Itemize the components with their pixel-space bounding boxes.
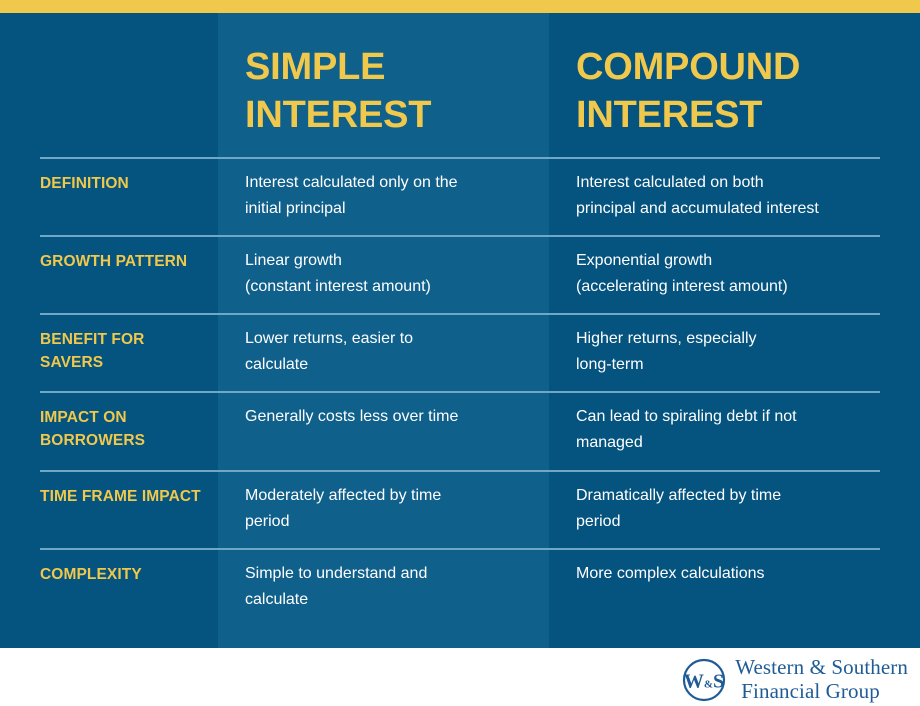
cell-text-line1: Dramatically affected by time bbox=[576, 483, 906, 509]
table-row: BENEFIT FOR SAVERS Lower returns, easier… bbox=[0, 313, 920, 391]
row-divider bbox=[40, 470, 880, 472]
cell-text-line1: Generally costs less over time bbox=[245, 404, 541, 430]
column-header-compound-line1: COMPOUND bbox=[576, 44, 920, 92]
cell-text-line2: calculate bbox=[245, 352, 541, 378]
column-header-compound-interest: COMPOUND INTEREST bbox=[576, 44, 920, 139]
svg-text:W&S: W&S bbox=[684, 670, 724, 692]
table-row: TIME FRAME IMPACT Moderately affected by… bbox=[0, 470, 920, 548]
table-row: IMPACT ON BORROWERS Generally costs less… bbox=[0, 391, 920, 470]
cell-text-line1: More complex calculations bbox=[576, 561, 906, 587]
cell-text-line2: calculate bbox=[245, 587, 541, 613]
comparison-infographic: SIMPLE INTEREST COMPOUND INTEREST DEFINI… bbox=[0, 0, 920, 706]
cell-text-line1: Linear growth bbox=[245, 248, 541, 274]
cell-text-line1: Interest calculated only on the bbox=[245, 170, 541, 196]
cell-text-line1: Simple to understand and bbox=[245, 561, 541, 587]
cell-text-line2: principal and accumulated interest bbox=[576, 196, 906, 222]
column-header-simple-line1: SIMPLE bbox=[245, 44, 545, 92]
footer: W&S Western & Southern Financial Group bbox=[0, 648, 920, 706]
cell-text-line2: managed bbox=[576, 430, 906, 456]
cell-text-line2: initial principal bbox=[245, 196, 541, 222]
row-label-benefit-for-savers: BENEFIT FOR SAVERS bbox=[40, 328, 210, 375]
cell-simple-definition: Interest calculated only on the initial … bbox=[245, 170, 541, 222]
row-label-line2: IMPACT bbox=[142, 488, 201, 505]
cell-compound-definition: Interest calculated on both principal an… bbox=[576, 170, 906, 222]
row-label-growth-pattern: GROWTH PATTERN bbox=[40, 250, 210, 273]
comparison-table: SIMPLE INTEREST COMPOUND INTEREST DEFINI… bbox=[0, 13, 920, 648]
cell-simple-growth-pattern: Linear growth (constant interest amount) bbox=[245, 248, 541, 300]
top-accent-bar bbox=[0, 0, 920, 13]
cell-compound-impact-on-borrowers: Can lead to spiraling debt if not manage… bbox=[576, 404, 906, 456]
row-label-line1: COMPLEXITY bbox=[40, 566, 142, 583]
cell-compound-growth-pattern: Exponential growth (accelerating interes… bbox=[576, 248, 906, 300]
row-label-time-frame-impact: TIME FRAME IMPACT bbox=[40, 485, 210, 508]
cell-compound-benefit-for-savers: Higher returns, especially long-term bbox=[576, 326, 906, 378]
cell-compound-time-frame-impact: Dramatically affected by time period bbox=[576, 483, 906, 535]
row-label-line1: GROWTH bbox=[40, 253, 111, 270]
cell-text-line1: Can lead to spiraling debt if not bbox=[576, 404, 906, 430]
cell-text-line1: Exponential growth bbox=[576, 248, 906, 274]
row-label-line2: SAVERS bbox=[40, 354, 103, 371]
cell-text-line1: Moderately affected by time bbox=[245, 483, 541, 509]
brand-logo: W&S Western & Southern Financial Group bbox=[682, 656, 908, 703]
row-label-line1: IMPACT ON bbox=[40, 409, 127, 426]
cell-text-line2: long-term bbox=[576, 352, 906, 378]
cell-simple-impact-on-borrowers: Generally costs less over time bbox=[245, 404, 541, 430]
row-divider bbox=[40, 313, 880, 315]
cell-simple-time-frame-impact: Moderately affected by time period bbox=[245, 483, 541, 535]
row-label-line1: BENEFIT FOR bbox=[40, 331, 144, 348]
brand-name: Western & Southern Financial Group bbox=[735, 656, 908, 703]
cell-text-line2: period bbox=[576, 509, 906, 535]
row-divider bbox=[40, 391, 880, 393]
cell-text-line2: (accelerating interest amount) bbox=[576, 274, 906, 300]
table-row: COMPLEXITY Simple to understand and calc… bbox=[0, 548, 920, 648]
column-header-compound-line2: INTEREST bbox=[576, 92, 920, 140]
cell-text-line1: Higher returns, especially bbox=[576, 326, 906, 352]
row-label-line1: TIME FRAME bbox=[40, 488, 137, 505]
table-row: GROWTH PATTERN Linear growth (constant i… bbox=[0, 235, 920, 313]
row-label-definition: DEFINITION bbox=[40, 172, 210, 195]
row-label-impact-on-borrowers: IMPACT ON BORROWERS bbox=[40, 406, 210, 453]
western-southern-circle-monogram-icon: W&S bbox=[682, 658, 726, 702]
table-grid: SIMPLE INTEREST COMPOUND INTEREST DEFINI… bbox=[0, 13, 920, 648]
cell-simple-benefit-for-savers: Lower returns, easier to calculate bbox=[245, 326, 541, 378]
row-label-line2: BORROWERS bbox=[40, 432, 145, 449]
row-divider bbox=[40, 157, 880, 159]
brand-name-line2: Financial Group bbox=[735, 680, 908, 704]
table-header-row: SIMPLE INTEREST COMPOUND INTEREST bbox=[0, 13, 920, 157]
row-label-complexity: COMPLEXITY bbox=[40, 563, 210, 586]
cell-simple-complexity: Simple to understand and calculate bbox=[245, 561, 541, 613]
cell-compound-complexity: More complex calculations bbox=[576, 561, 906, 587]
column-header-simple-line2: INTEREST bbox=[245, 92, 545, 140]
brand-name-line1: Western & Southern bbox=[735, 656, 908, 680]
row-divider bbox=[40, 548, 880, 550]
row-label-line1: DEFINITION bbox=[40, 175, 129, 192]
cell-text-line2: period bbox=[245, 509, 541, 535]
table-row: DEFINITION Interest calculated only on t… bbox=[0, 157, 920, 235]
cell-text-line1: Interest calculated on both bbox=[576, 170, 906, 196]
column-header-simple-interest: SIMPLE INTEREST bbox=[245, 44, 545, 139]
row-label-line2: PATTERN bbox=[116, 253, 188, 270]
row-divider bbox=[40, 235, 880, 237]
cell-text-line1: Lower returns, easier to bbox=[245, 326, 541, 352]
cell-text-line2: (constant interest amount) bbox=[245, 274, 541, 300]
